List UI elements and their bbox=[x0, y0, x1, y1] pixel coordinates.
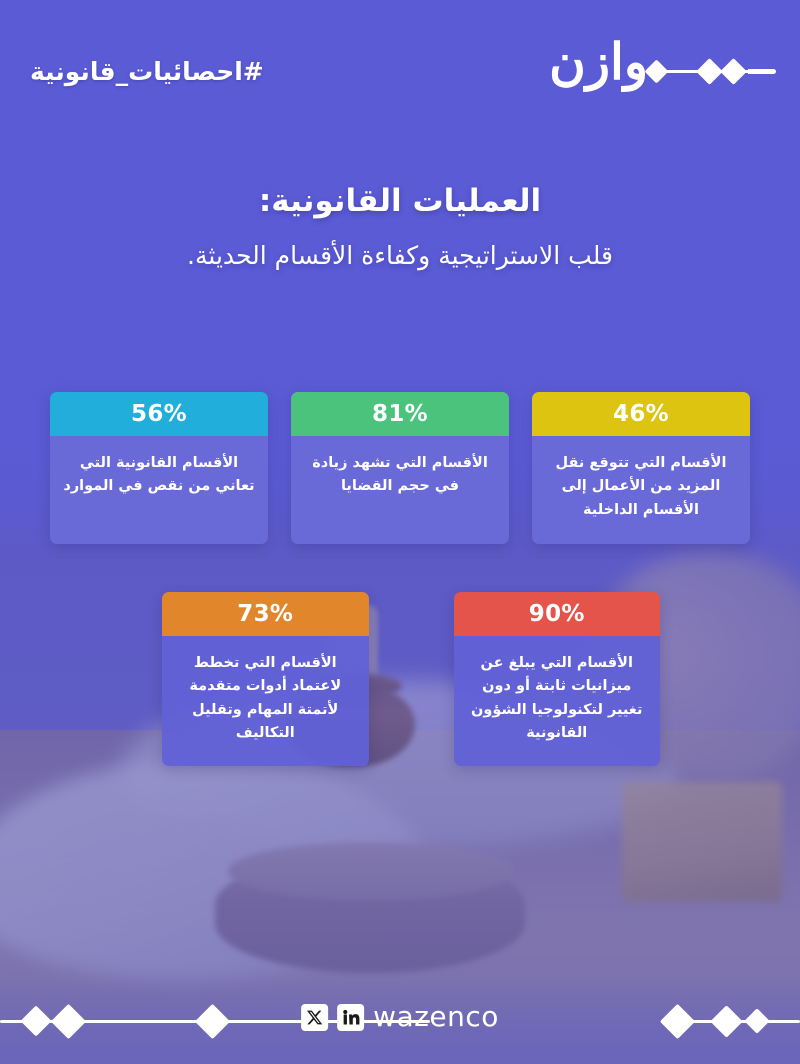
diamond-ornament-icon bbox=[744, 1008, 769, 1033]
brand-logo: وازن bbox=[549, 30, 778, 102]
linkedin-icon[interactable] bbox=[337, 1004, 364, 1031]
title-block: العمليات القانونية: قلب الاستراتيجية وكف… bbox=[0, 182, 800, 273]
brand-name: وازن bbox=[549, 37, 648, 87]
stat-value-header: 56% bbox=[50, 392, 268, 436]
diamond-ornament-icon bbox=[710, 1005, 743, 1038]
stat-card: 90% الأقسام التي يبلغ عن ميزانيات ثابتة … bbox=[454, 592, 661, 766]
hashtag-label: #احصائيات_قانونية bbox=[30, 57, 264, 86]
brand-handle: wazenco bbox=[373, 1003, 499, 1031]
diamond-ornament-icon bbox=[51, 1004, 86, 1039]
stat-card: 81% الأقسام التي تشهد زيادة في حجم القضا… bbox=[291, 392, 509, 544]
page-title: العمليات القانونية: bbox=[50, 182, 750, 221]
x-twitter-icon[interactable] bbox=[301, 1004, 328, 1031]
stat-card: 56% الأقسام القانونية التي تعاني من نقص … bbox=[50, 392, 268, 544]
infographic-poster: #احصائيات_قانونية وازن العمليات القانوني… bbox=[0, 0, 800, 1064]
stat-value-header: 90% bbox=[454, 592, 661, 636]
stat-description: الأقسام التي تشهد زيادة في حجم القضايا bbox=[291, 436, 509, 544]
page-subtitle: قلب الاستراتيجية وكفاءة الأقسام الحديثة. bbox=[50, 239, 750, 273]
stat-card: 46% الأقسام التي تتوقع نقل المزيد من الأ… bbox=[532, 392, 750, 544]
stat-description: الأقسام القانونية التي تعاني من نقص في ا… bbox=[50, 436, 268, 544]
diamond-rule-ornament-icon bbox=[648, 57, 774, 87]
stat-value-header: 73% bbox=[162, 592, 369, 636]
stat-description: الأقسام التي تتوقع نقل المزيد من الأعمال… bbox=[532, 436, 750, 544]
diamond-ornament-icon bbox=[195, 1004, 230, 1039]
stat-description: الأقسام التي يبلغ عن ميزانيات ثابتة أو د… bbox=[454, 636, 661, 766]
stat-description: الأقسام التي تخطط لاعتماد أدوات متقدمة ل… bbox=[162, 636, 369, 766]
diamond-ornament-icon bbox=[660, 1004, 695, 1039]
poster-header: #احصائيات_قانونية وازن bbox=[0, 0, 800, 130]
stat-cards-row-bottom: 90% الأقسام التي يبلغ عن ميزانيات ثابتة … bbox=[162, 592, 660, 766]
stat-value-header: 81% bbox=[291, 392, 509, 436]
poster-footer: wazenco bbox=[0, 978, 800, 1064]
stat-cards-row-top: 46% الأقسام التي تتوقع نقل المزيد من الأ… bbox=[50, 392, 750, 544]
stat-card: 73% الأقسام التي تخطط لاعتماد أدوات متقد… bbox=[162, 592, 369, 766]
diamond-ornament-icon bbox=[20, 1005, 51, 1036]
social-links: wazenco bbox=[301, 1003, 499, 1031]
stat-value-header: 46% bbox=[532, 392, 750, 436]
